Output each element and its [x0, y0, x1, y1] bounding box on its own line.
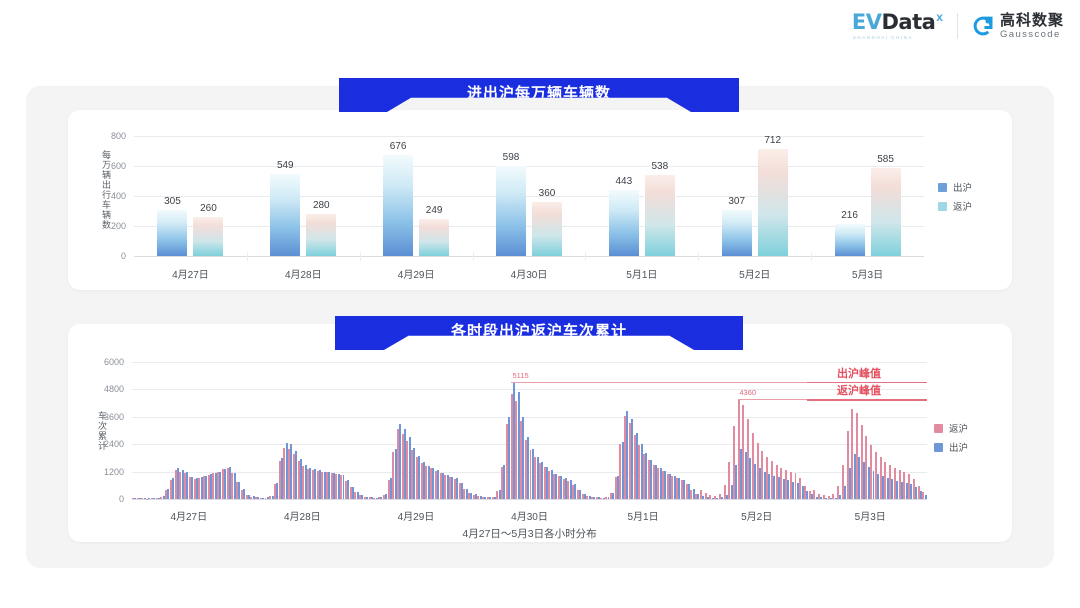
- daily-bar-out[interactable]: [609, 190, 639, 256]
- hourly-y-axis-title: 车次累计: [96, 380, 109, 481]
- daily-bar-value: 305: [164, 196, 181, 207]
- hourly-bar-chart: 0120024003600480060004月27日4月28日4月29日4月30…: [132, 362, 927, 499]
- daily-x-tick: 4月28日: [285, 266, 322, 281]
- back-peak-label: 返沪峰值: [837, 382, 881, 398]
- logo-group: EVData x SHANGHAI CHINA 高科数聚 Gausscode: [852, 12, 1064, 40]
- daily-x-tick: 5月3日: [852, 266, 883, 281]
- daily-bar-value: 538: [652, 161, 669, 172]
- legend-label-back-hourly: 返沪: [949, 421, 968, 435]
- daily-x-separator: [247, 252, 248, 261]
- legend-item-out[interactable]: 出沪: [938, 180, 972, 194]
- legend-swatch-back-hourly: [934, 424, 943, 433]
- daily-bar-out[interactable]: [270, 174, 300, 256]
- legend-label-out-hourly: 出沪: [949, 440, 968, 454]
- legend-item-out-hourly[interactable]: 出沪: [934, 440, 968, 454]
- daily-y-tick: 400: [111, 191, 126, 201]
- daily-y-tick: 600: [111, 161, 126, 171]
- daily-bar-value: 712: [764, 135, 781, 146]
- daily-bar-value: 216: [841, 210, 858, 221]
- hourly-chart-legend: 返沪 出沪: [934, 421, 968, 454]
- hourly-x-tick: 4月28日: [284, 508, 321, 523]
- hourly-x-tick: 5月3日: [855, 508, 886, 523]
- hourly-y-tick: 6000: [104, 357, 124, 367]
- hourly-bar-out[interactable]: [925, 495, 927, 499]
- daily-y-axis-title: 每万辆出行车辆数: [100, 134, 113, 246]
- evdata-ev-part: EV: [852, 10, 882, 34]
- daily-x-tick: 5月1日: [626, 266, 657, 281]
- hourly-gridline: [132, 444, 927, 445]
- hourly-x-tick: 5月1日: [628, 508, 659, 523]
- hourly-axis-baseline: [132, 499, 927, 500]
- daily-x-tick: 4月29日: [398, 266, 435, 281]
- daily-bar-value: 260: [200, 203, 217, 214]
- daily-gridline: [134, 226, 924, 227]
- daily-x-tick: 5月2日: [739, 266, 770, 281]
- gausscode-name-en: Gausscode: [1000, 30, 1064, 40]
- hourly-x-tick: 5月2日: [741, 508, 772, 523]
- daily-y-tick: 800: [111, 131, 126, 141]
- daily-bar-back[interactable]: [871, 168, 901, 256]
- hourly-gridline: [132, 389, 927, 390]
- daily-bar-back[interactable]: [193, 217, 223, 256]
- hourly-gridline: [132, 417, 927, 418]
- daily-bar-value: 585: [877, 154, 894, 165]
- daily-bar-chart: 02004006008003052604月27日5492804月28日67624…: [134, 124, 924, 256]
- daily-x-tick: 4月27日: [172, 266, 209, 281]
- daily-x-separator: [811, 252, 812, 261]
- out-peak-label: 出沪峰值: [837, 365, 881, 381]
- legend-item-back[interactable]: 返沪: [938, 199, 972, 213]
- daily-bar-out[interactable]: [383, 155, 413, 256]
- legend-swatch-back: [938, 202, 947, 211]
- daily-x-separator: [698, 252, 699, 261]
- evdata-wordmark: EVData: [852, 12, 935, 33]
- daily-bar-value: 307: [728, 196, 745, 207]
- daily-bar-value: 676: [390, 141, 407, 152]
- hourly-x-tick: 4月27日: [170, 508, 207, 523]
- evdata-logo: EVData x SHANGHAI CHINA: [852, 12, 943, 40]
- daily-bar-value: 443: [616, 176, 633, 187]
- gausscode-name-cn: 高科数聚: [1000, 13, 1064, 28]
- daily-axis-baseline: [134, 256, 924, 257]
- legend-swatch-out: [938, 183, 947, 192]
- back-peak-value: 4360: [739, 388, 756, 397]
- hourly-x-tick: 4月30日: [511, 508, 548, 523]
- back-peak-line-emphasis: [807, 399, 927, 400]
- gausscode-logo: 高科数聚 Gausscode: [972, 13, 1064, 40]
- hourly-gridline: [132, 362, 927, 363]
- legend-label-out: 出沪: [953, 180, 972, 194]
- daily-gridline: [134, 136, 924, 137]
- daily-bar-back[interactable]: [306, 214, 336, 256]
- daily-bar-value: 249: [426, 205, 443, 216]
- daily-bar-back[interactable]: [645, 175, 675, 256]
- daily-x-separator: [585, 252, 586, 261]
- daily-gridline: [134, 166, 924, 167]
- daily-gridline: [134, 196, 924, 197]
- daily-bar-out[interactable]: [157, 210, 187, 256]
- daily-bar-out[interactable]: [835, 224, 865, 256]
- daily-bar-back[interactable]: [758, 149, 788, 256]
- daily-x-separator: [473, 252, 474, 261]
- hourly-x-axis-title: 4月27日～5月3日各小时分布: [462, 526, 596, 541]
- daily-bar-value: 598: [503, 152, 520, 163]
- out-peak-value: 5115: [512, 371, 528, 380]
- logo-divider: [957, 13, 958, 39]
- daily-bar-value: 549: [277, 160, 294, 171]
- page-header: EVData x SHANGHAI CHINA 高科数聚 Gausscode: [0, 0, 1080, 62]
- daily-bar-value: 280: [313, 200, 330, 211]
- daily-bar-back[interactable]: [532, 202, 562, 256]
- evdata-tagline: SHANGHAI CHINA: [853, 35, 913, 40]
- legend-label-back: 返沪: [953, 199, 972, 213]
- daily-y-tick: 200: [111, 221, 126, 231]
- daily-chart-legend: 出沪 返沪: [938, 180, 972, 213]
- daily-bar-out[interactable]: [496, 166, 526, 256]
- hourly-y-tick: 0: [119, 494, 124, 504]
- daily-bar-value: 360: [539, 188, 556, 199]
- hourly-x-tick: 4月29日: [398, 508, 435, 523]
- daily-bar-out[interactable]: [722, 210, 752, 256]
- daily-x-separator: [360, 252, 361, 261]
- daily-y-tick: 0: [121, 251, 126, 261]
- gausscode-mark-icon: [972, 15, 994, 37]
- evdata-superscript-icon: x: [936, 10, 943, 24]
- legend-swatch-out-hourly: [934, 443, 943, 452]
- legend-item-back-hourly[interactable]: 返沪: [934, 421, 968, 435]
- daily-bar-back[interactable]: [419, 219, 449, 256]
- evdata-data-part: Data: [881, 10, 935, 34]
- daily-x-tick: 4月30日: [511, 266, 548, 281]
